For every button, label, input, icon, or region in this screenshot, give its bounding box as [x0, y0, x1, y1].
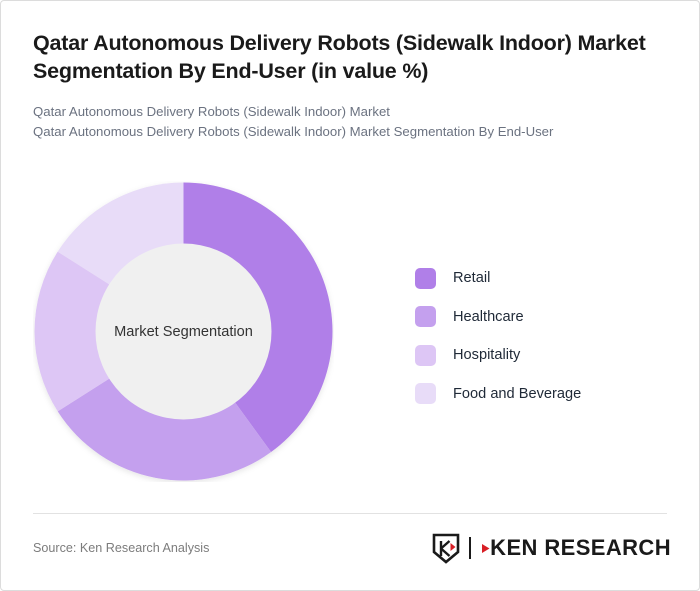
legend-swatch-icon: [415, 383, 436, 404]
legend-label: Retail: [453, 270, 490, 286]
logo-divider: [469, 537, 471, 559]
chart-card: Qatar Autonomous Delivery Robots (Sidewa…: [0, 0, 700, 591]
ken-research-shield-icon: [430, 532, 462, 564]
brand-name: KEN RESEARCH: [490, 535, 671, 561]
footer-divider: [33, 513, 667, 514]
donut-svg: [33, 181, 334, 482]
chart-footer: Source: Ken Research Analysis KEN RESEAR…: [33, 531, 671, 565]
chart-header: Qatar Autonomous Delivery Robots (Sidewa…: [1, 1, 699, 143]
donut-chart: Market Segmentation: [33, 181, 334, 482]
chart-subtitle: Qatar Autonomous Delivery Robots (Sidewa…: [33, 102, 667, 143]
chart-subtitle-line-1: Qatar Autonomous Delivery Robots (Sidewa…: [33, 102, 667, 122]
brand-logo: KEN RESEARCH: [430, 532, 671, 564]
legend-item[interactable]: Healthcare: [415, 298, 675, 337]
legend-swatch-icon: [415, 268, 436, 289]
legend-label: Healthcare: [453, 309, 524, 325]
page-title: Qatar Autonomous Delivery Robots (Sidewa…: [33, 29, 667, 86]
chart-subtitle-line-2: Qatar Autonomous Delivery Robots (Sidewa…: [33, 122, 667, 142]
donut-hole: [96, 244, 272, 420]
legend-item[interactable]: Hospitality: [415, 336, 675, 375]
plot-area: Market Segmentation RetailHealthcareHosp…: [1, 161, 700, 506]
legend-label: Food and Beverage: [453, 386, 581, 402]
legend-swatch-icon: [415, 345, 436, 366]
chart-legend: RetailHealthcareHospitalityFood and Beve…: [415, 259, 675, 413]
legend-swatch-icon: [415, 306, 436, 327]
legend-label: Hospitality: [453, 347, 520, 363]
source-note: Source: Ken Research Analysis: [33, 541, 209, 555]
legend-item[interactable]: Food and Beverage: [415, 375, 675, 414]
legend-item[interactable]: Retail: [415, 259, 675, 298]
